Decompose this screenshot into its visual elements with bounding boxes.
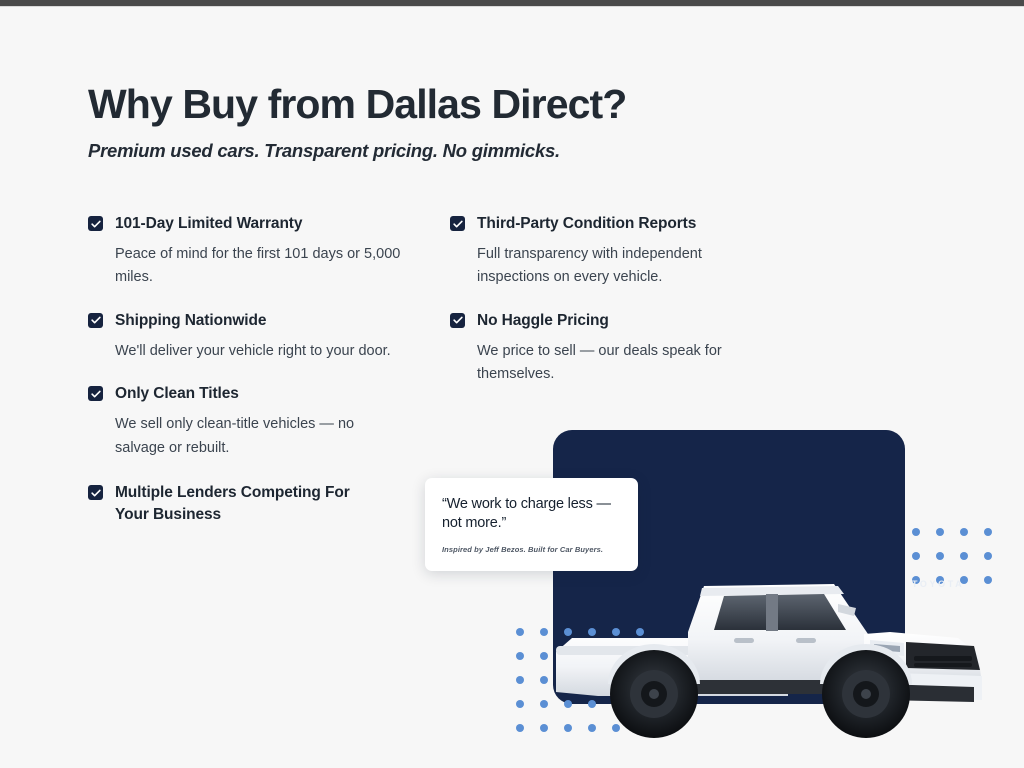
- check-icon: [88, 386, 103, 401]
- feature-title: No Haggle Pricing: [477, 310, 609, 332]
- feature-title: 101-Day Limited Warranty: [115, 213, 302, 235]
- feature-item: 101-Day Limited Warranty Peace of mind f…: [88, 213, 418, 290]
- heading-block: Why Buy from Dallas Direct? Premium used…: [88, 82, 788, 162]
- features-column-left: 101-Day Limited Warranty Peace of mind f…: [88, 213, 418, 546]
- feature-header: Third-Party Condition Reports: [450, 213, 780, 235]
- quote-card: “We work to charge less — not more.” Ins…: [425, 478, 638, 571]
- quote-text: “We work to charge less — not more.”: [442, 495, 622, 534]
- feature-title: Multiple Lenders Competing For Your Busi…: [115, 482, 375, 526]
- feature-description: We sell only clean-title vehicles — no s…: [115, 413, 407, 460]
- feature-header: Shipping Nationwide: [88, 310, 418, 332]
- feature-description: We price to sell — our deals speak for t…: [477, 340, 749, 387]
- feature-item: No Haggle Pricing We price to sell — our…: [450, 310, 780, 387]
- quote-attribution: Inspired by Jeff Bezos. Built for Car Bu…: [442, 545, 622, 554]
- browser-chrome-strip: [0, 0, 1024, 7]
- check-icon: [88, 485, 103, 500]
- feature-description: We'll deliver your vehicle right to your…: [115, 340, 407, 363]
- feature-header: 101-Day Limited Warranty: [88, 213, 418, 235]
- page-title: Why Buy from Dallas Direct?: [88, 82, 788, 128]
- media-section: TOYOTA “We work to charge less — not mor…: [420, 416, 1024, 768]
- page-canvas: Why Buy from Dallas Direct? Premium used…: [0, 8, 1024, 768]
- feature-header: Multiple Lenders Competing For Your Busi…: [88, 482, 418, 526]
- feature-header: No Haggle Pricing: [450, 310, 780, 332]
- check-icon: [88, 313, 103, 328]
- feature-item: Third-Party Condition Reports Full trans…: [450, 213, 780, 290]
- check-icon: [88, 216, 103, 231]
- page-subtitle: Premium used cars. Transparent pricing. …: [88, 140, 788, 162]
- feature-description: Full transparency with independent inspe…: [477, 243, 739, 290]
- feature-header: Only Clean Titles: [88, 383, 418, 405]
- check-icon: [450, 216, 465, 231]
- feature-description: Peace of mind for the first 101 days or …: [115, 243, 407, 290]
- features-column-right: Third-Party Condition Reports Full trans…: [450, 213, 780, 407]
- toyota-badge: TOYOTA: [912, 579, 964, 589]
- feature-item: Multiple Lenders Competing For Your Busi…: [88, 482, 418, 526]
- check-icon: [450, 313, 465, 328]
- feature-item: Shipping Nationwide We'll deliver your v…: [88, 310, 418, 363]
- feature-title: Shipping Nationwide: [115, 310, 266, 332]
- feature-title: Third-Party Condition Reports: [477, 213, 696, 235]
- feature-item: Only Clean Titles We sell only clean-tit…: [88, 383, 418, 460]
- feature-title: Only Clean Titles: [115, 383, 239, 405]
